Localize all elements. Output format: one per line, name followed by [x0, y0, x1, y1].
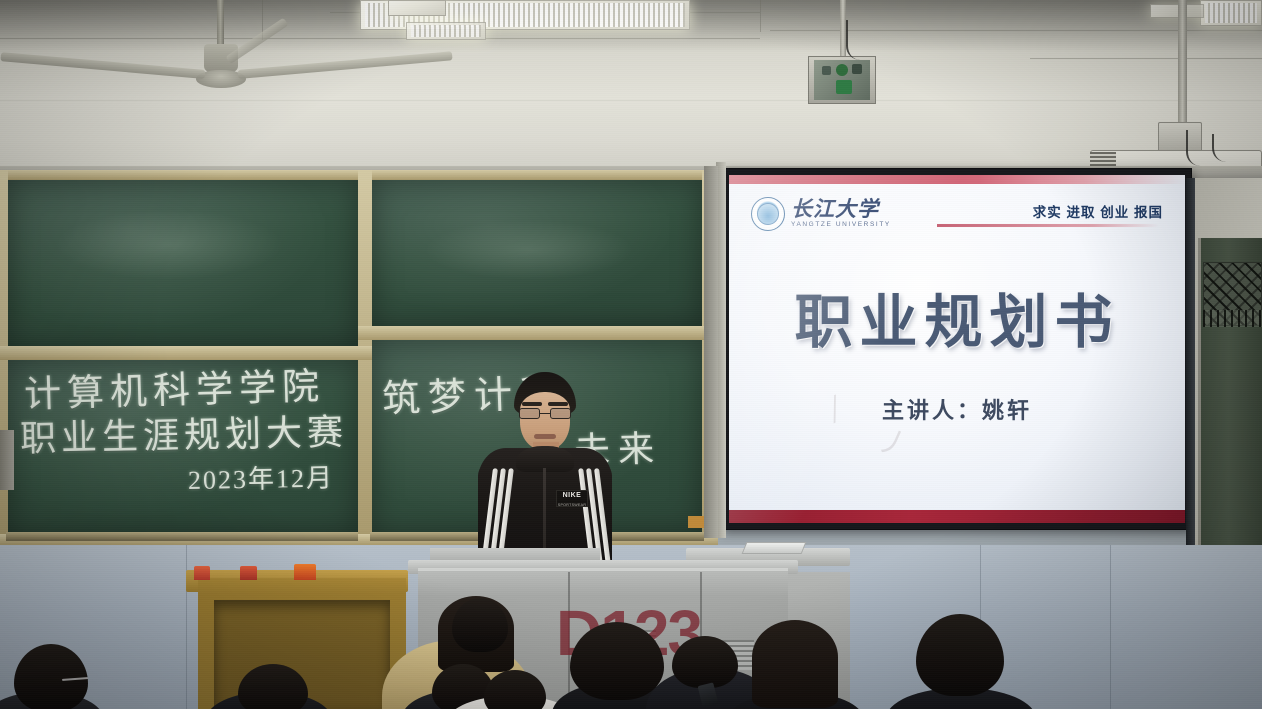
ceiling-tile-seam: [760, 0, 761, 32]
presenter-glasses-icon: [519, 408, 571, 419]
ceiling-tile-seam: [0, 38, 760, 39]
glasses-lens: [519, 408, 540, 419]
board-frame-cross-right: [358, 326, 718, 340]
chalk-smudge: [54, 210, 284, 280]
university-motto: 求实 进取 创业 报国: [1033, 201, 1163, 221]
university-seal-icon: [751, 197, 785, 231]
podium-item-cup: [240, 566, 257, 580]
wall-edge-left: [0, 430, 14, 490]
fan-rod: [217, 0, 224, 48]
presenter-eyebrow: [548, 402, 568, 406]
speaker-dot: [852, 64, 862, 74]
podium-item-cup: [194, 566, 210, 580]
presenter: NIKE SPORTSWEAR: [478, 372, 612, 572]
speaker-dot: [822, 66, 831, 75]
student-head: [452, 598, 508, 652]
door-vent-grill-icon: [1203, 310, 1262, 327]
wall-post: [1186, 178, 1195, 608]
chalk-text-date: 2023年12月: [188, 457, 335, 497]
slide-title: 职业规划书: [729, 275, 1185, 359]
screen-left-bracket: [704, 166, 718, 538]
speaker-panel: [836, 80, 852, 94]
chalk-text-event: 职业生涯规划大赛: [19, 403, 348, 462]
university-logo: 长江大学 YANGTZE UNIVERSITY: [751, 197, 891, 231]
ceiling-light-3: [1200, 0, 1262, 26]
podium-item-cup: [294, 564, 316, 580]
projection-screen: 长江大学 YANGTZE UNIVERSITY 求实 进取 创业 报国 职业规划…: [722, 168, 1192, 530]
light-grate-icon: [1205, 3, 1257, 23]
university-name-cn: 长江大学: [791, 199, 891, 220]
glasses-lens: [550, 408, 571, 419]
wall-seam: [1110, 545, 1111, 709]
jacket-brand-text: NIKE: [558, 492, 586, 499]
slide-subtitle: 主讲人：姚轩: [729, 393, 1185, 425]
glasses-bridge: [540, 413, 550, 414]
university-name-en: YANGTZE UNIVERSITY: [791, 222, 891, 229]
ceiling-tile-seam: [0, 100, 1262, 101]
jacket-brand-subtext: SPORTSWEAR: [556, 503, 588, 507]
ceiling-light-2: [388, 0, 446, 16]
papers-on-desk: [742, 542, 807, 554]
university-logo-text: 长江大学 YANGTZE UNIVERSITY: [791, 199, 891, 229]
student-head: [672, 636, 738, 688]
slide-surface: 长江大学 YANGTZE UNIVERSITY 求实 进取 创业 报国 职业规划…: [729, 175, 1185, 523]
projector-mount-pole: [1178, 0, 1187, 126]
classroom-scene: 计算机科学学院 职业生涯规划大赛 2023年12月 筑梦计科 未来 长江大学 Y…: [0, 0, 1262, 709]
chalk-eraser: [688, 516, 704, 528]
student-hair: [752, 620, 838, 708]
speaker-cable: [846, 20, 868, 60]
speaker-indicator: [836, 64, 848, 76]
chalk-smudge: [424, 220, 634, 280]
ceiling-light-1-side: [406, 22, 486, 40]
projector-cable: [1186, 130, 1212, 166]
slide-divider-rule: [937, 224, 1159, 227]
presenter-mouth: [534, 434, 556, 439]
chalk-tray-left: [6, 532, 358, 541]
ceiling-tile-seam: [1030, 58, 1262, 59]
slide-top-accent-bar: [729, 175, 1185, 184]
ceiling-light-3b: [1150, 4, 1204, 18]
presenter-eyebrow: [522, 402, 542, 406]
light-grate-icon: [411, 25, 481, 37]
slide-bottom-accent-bar: [729, 510, 1185, 523]
